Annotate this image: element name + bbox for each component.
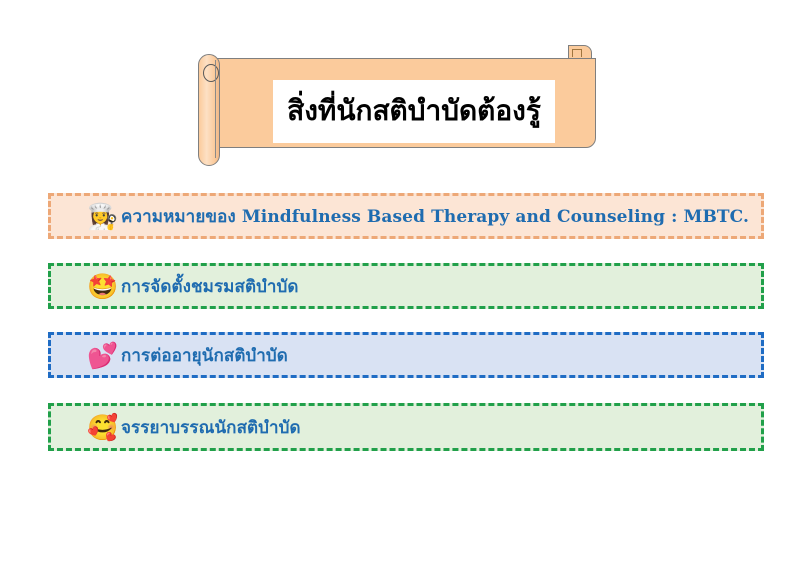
list-item-label-thai: จรรยาบรรณนักสติบำบัด [121,418,301,438]
cook-emoji: 👩‍🍳 [87,204,121,229]
list-item[interactable]: 👩‍🍳 ความหมายของ Mindfulness Based Therap… [48,193,764,239]
list-item[interactable]: 🥰 จรรยาบรรณนักสติบำบัด [48,403,764,451]
list-item-label-thai: การต่ออายุนักสติบำบัด [121,346,288,366]
list-item-label-en: Mindfulness Based Therapy and Counseling… [242,207,749,227]
list-item-label: จรรยาบรรณนักสติบำบัด [121,414,301,441]
two-hearts-emoji: 💕 [87,343,121,368]
smiling-face-with-hearts-emoji: 🥰 [87,415,121,440]
list-item[interactable]: 💕 การต่ออายุนักสติบำบัด [48,332,764,378]
list-item-label-thai: ความหมายของ [121,207,242,227]
topic-list: 👩‍🍳 ความหมายของ Mindfulness Based Therap… [0,0,800,566]
list-item-label: การต่ออายุนักสติบำบัด [121,342,288,369]
list-item-label-thai: การจัดตั้งชมรมสติบำบัด [121,277,299,297]
star-struck-emoji: 🤩 [87,274,121,299]
list-item[interactable]: 🤩 การจัดตั้งชมรมสติบำบัด [48,263,764,309]
list-item-label: การจัดตั้งชมรมสติบำบัด [121,273,299,300]
list-item-label: ความหมายของ Mindfulness Based Therapy an… [121,203,749,230]
